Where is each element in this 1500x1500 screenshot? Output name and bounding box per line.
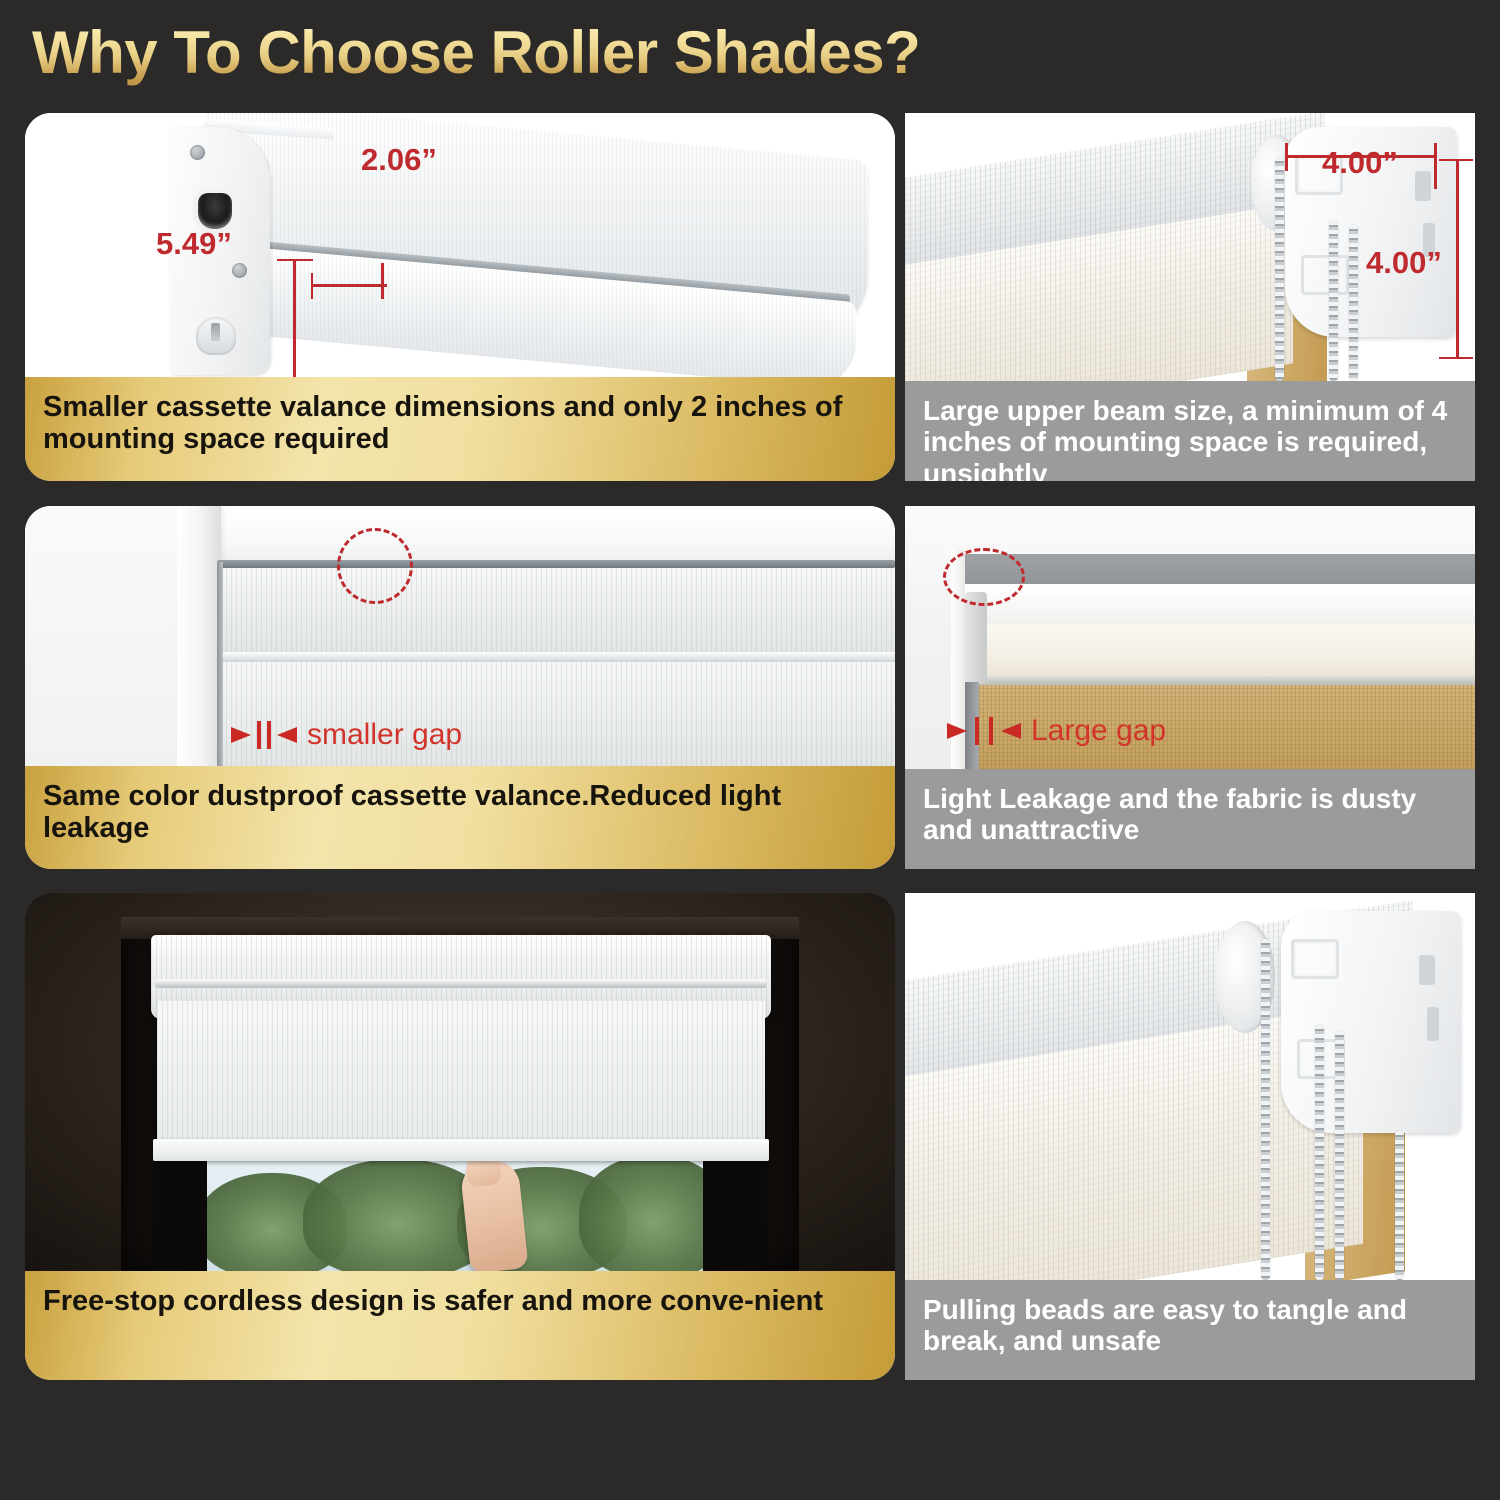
valance-edge <box>967 676 1475 685</box>
panel-large-gap: Large gap Light Leakage and the fabric i… <box>905 506 1475 869</box>
dim-tick-right <box>381 263 384 299</box>
dimension-label-height-5-49: 5.49” <box>156 226 232 262</box>
shade-large-bracket <box>1281 911 1461 1133</box>
arrow-right-icon <box>231 727 251 743</box>
window-frame-jamb <box>177 506 221 766</box>
shade-head-rail <box>217 560 895 568</box>
bracket-slot-icon <box>1415 171 1431 201</box>
panel-3-caption: Same color dustproof cassette valance.Re… <box>25 766 895 869</box>
valance-slit <box>155 979 767 988</box>
panel-4-caption: Light Leakage and the fabric is dusty an… <box>905 769 1475 869</box>
panel-5-caption-text: Free-stop cordless design is safer and m… <box>43 1285 823 1317</box>
outdoor-scene <box>207 1151 703 1271</box>
bracket-pin <box>196 317 236 355</box>
bead-chain <box>1349 225 1358 381</box>
panel-3-caption-text: Same color dustproof cassette valance.Re… <box>43 780 877 845</box>
roller-shade-illustration <box>905 893 1475 1280</box>
shade-bottom-rail <box>153 1139 769 1161</box>
cassette-valance-illustration <box>170 121 870 396</box>
gap-tick-icon <box>989 717 993 745</box>
dim-line-vertical <box>1456 159 1459 359</box>
gap-tick-icon <box>267 721 271 749</box>
panel-5-image <box>25 893 895 1271</box>
panel-smaller-cassette: Smaller cassette valance dimensions and … <box>25 113 895 481</box>
shade-fabric <box>157 1001 765 1161</box>
gap-tick-icon <box>975 717 979 745</box>
dim-tick-top <box>1439 159 1473 161</box>
arrow-right-icon <box>947 723 967 739</box>
valance-face <box>967 624 1475 678</box>
panel-3-image: smaller gap <box>25 506 895 766</box>
dimension-label-height-4-00: 4.00” <box>1366 245 1442 281</box>
smaller-gap-callout: smaller gap <box>231 718 462 752</box>
bracket-socket <box>198 193 232 229</box>
large-gap-label: Large gap <box>1031 714 1166 748</box>
arrow-left-icon <box>1001 723 1021 739</box>
highlight-circle-icon <box>337 528 413 604</box>
panel-smaller-gap: smaller gap Same color dustproof cassett… <box>25 506 895 869</box>
dim-line-horizontal <box>311 284 387 287</box>
bead-chain <box>1275 157 1284 381</box>
screw-icon <box>190 145 205 160</box>
tree <box>579 1155 703 1271</box>
dimension-label-width-2-06: 2.06” <box>361 142 437 178</box>
panel-4-caption-text: Light Leakage and the fabric is dusty an… <box>923 783 1457 846</box>
panel-6-caption: Pulling beads are easy to tangle and bre… <box>905 1280 1475 1380</box>
panel-cordless-design: Free-stop cordless design is safer and m… <box>25 893 895 1380</box>
screw-icon <box>232 263 247 278</box>
panel-1-caption: Smaller cassette valance dimensions and … <box>25 377 895 481</box>
bracket-slot-icon <box>1419 955 1435 985</box>
panel-pulling-beads: Pulling beads are easy to tangle and bre… <box>905 893 1475 1380</box>
panel-2-caption: Large upper beam size, a minimum of 4 in… <box>905 381 1475 481</box>
dim-tick-right <box>1434 143 1437 189</box>
panel-2-caption-text: Large upper beam size, a minimum of 4 in… <box>923 395 1457 481</box>
bead-chain <box>1315 1025 1324 1280</box>
large-gap-callout: Large gap <box>947 714 1166 748</box>
panel-6-caption-text: Pulling beads are easy to tangle and bre… <box>923 1294 1457 1357</box>
dim-tick-top <box>277 259 313 261</box>
bead-chain <box>1395 1131 1404 1280</box>
dim-tick-bottom <box>1439 357 1473 359</box>
panel-4-image: Large gap <box>905 506 1475 769</box>
side-gap-strip <box>217 562 223 766</box>
bracket-slot-icon <box>1427 1007 1439 1041</box>
bead-chain <box>1329 221 1338 381</box>
arrow-left-icon <box>277 727 297 743</box>
bead-chain <box>1261 939 1270 1280</box>
page-title: Why To Choose Roller Shades? <box>32 18 920 87</box>
shade-fabric-upper <box>221 568 895 654</box>
panel-1-caption-text: Smaller cassette valance dimensions and … <box>43 391 877 456</box>
panel-6-image <box>905 893 1475 1280</box>
dimension-label-width-4-00: 4.00” <box>1322 145 1398 181</box>
bead-chain <box>1335 1031 1344 1280</box>
smaller-gap-label: smaller gap <box>307 718 462 752</box>
gap-tick-icon <box>257 721 261 749</box>
highlight-circle-icon <box>943 548 1025 606</box>
panel-5-caption: Free-stop cordless design is safer and m… <box>25 1271 895 1380</box>
